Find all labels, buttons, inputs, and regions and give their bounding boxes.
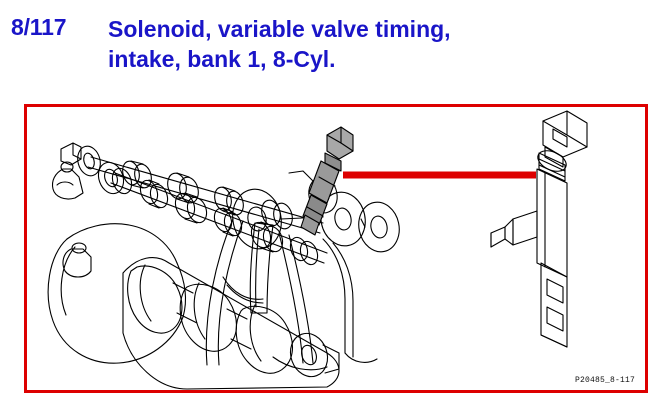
flywheel	[48, 224, 185, 363]
intake-camshaft	[94, 159, 327, 267]
page-title: Solenoid, variable valve timing, intake,…	[108, 14, 628, 74]
page-header: 8/117 Solenoid, variable valve timing, i…	[0, 0, 667, 96]
position-sensor	[52, 162, 83, 199]
vvt-solenoid-installed	[301, 127, 353, 235]
page-title-line-2: intake, bank 1, 8-Cyl.	[108, 44, 628, 74]
figure-id-label: P20485_8-117	[575, 376, 635, 385]
engine-diagram	[27, 107, 645, 390]
timing-chain	[206, 219, 313, 365]
figure-number: 8/117	[11, 14, 66, 41]
page-title-line-1: Solenoid, variable valve timing,	[108, 14, 628, 44]
engine-block-outline	[273, 239, 377, 370]
figure-frame: P20485_8-117	[24, 104, 648, 393]
vvt-solenoid-detail	[491, 111, 587, 347]
